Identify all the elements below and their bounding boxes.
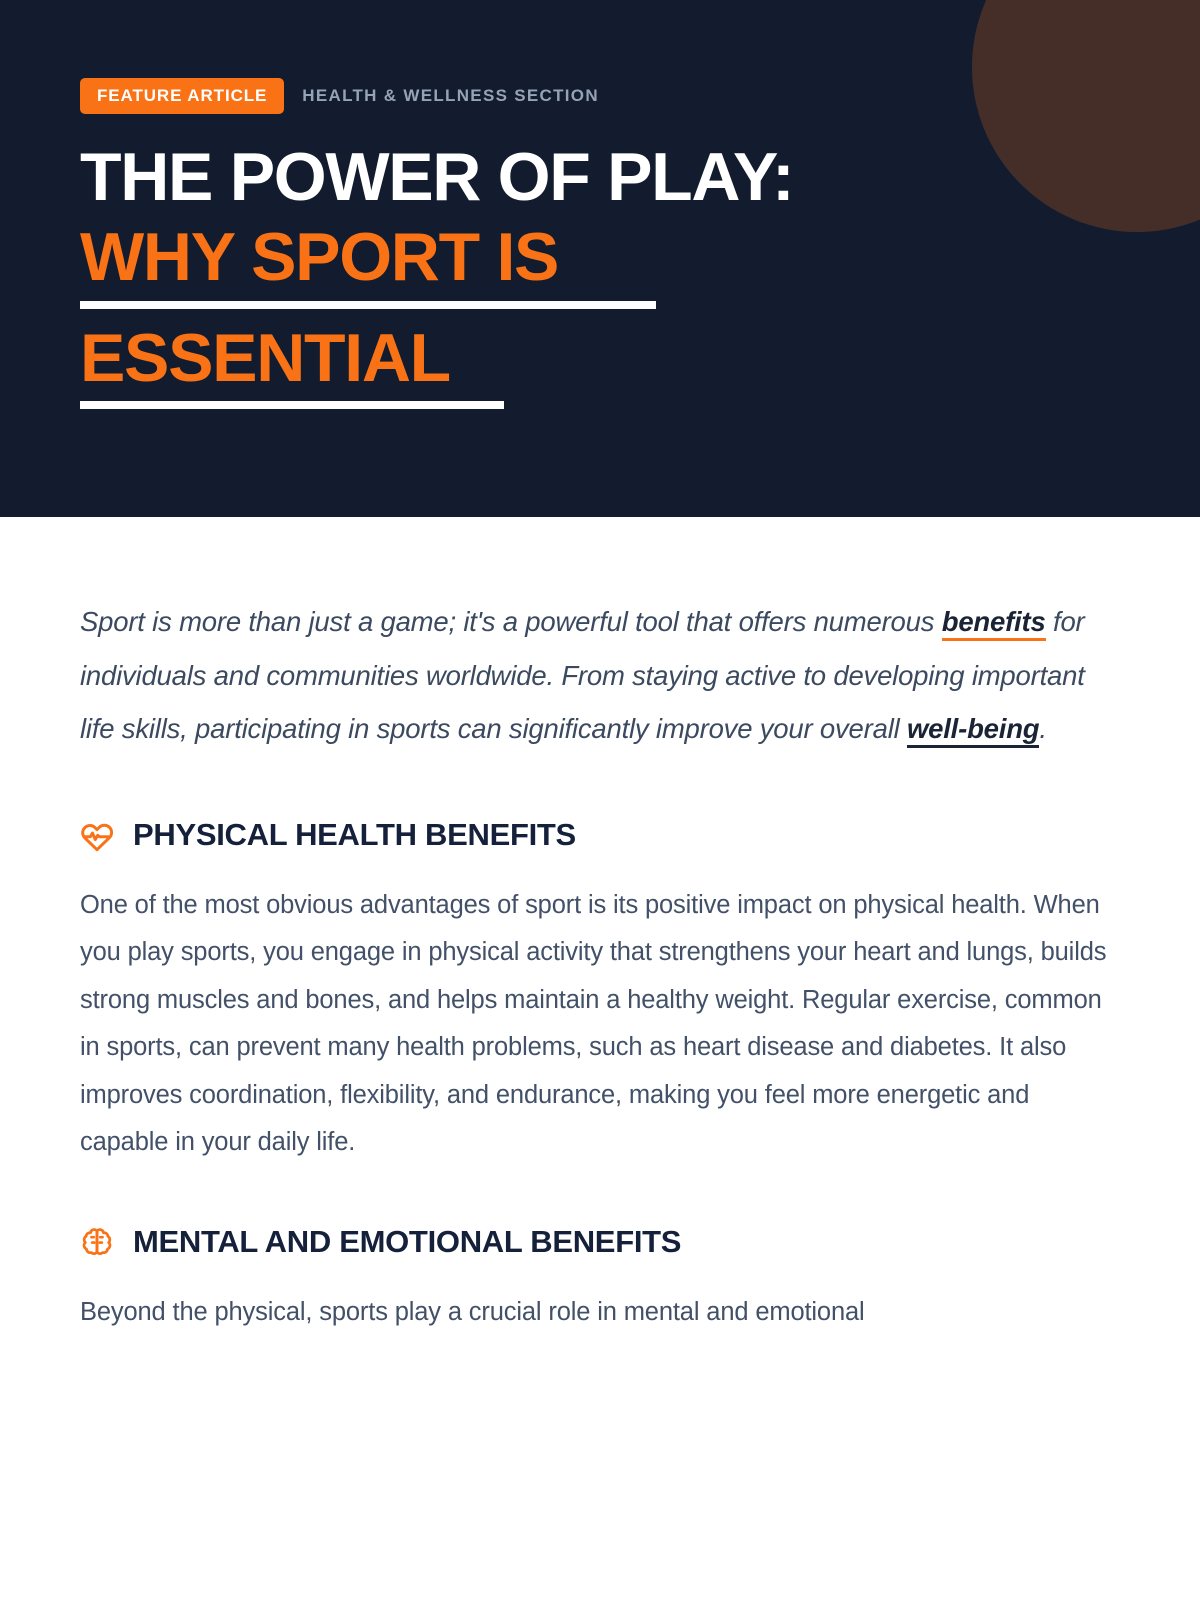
heart-pulse-icon (80, 818, 114, 852)
section-label: HEALTH & WELLNESS SECTION (302, 86, 599, 106)
section-physical-health: PHYSICAL HEALTH BENEFITS One of the most… (80, 818, 1120, 1167)
title-underline-2 (80, 401, 504, 409)
article-body: Sport is more than just a game; it's a p… (0, 595, 1200, 1336)
section-header: MENTAL AND EMOTIONAL BENEFITS (80, 1225, 1120, 1259)
title-line-accent-2: ESSENTIAL (80, 325, 450, 392)
section-mental-emotional: MENTAL AND EMOTIONAL BENEFITS Beyond the… (80, 1225, 1120, 1337)
section-body: One of the most obvious advantages of sp… (80, 882, 1120, 1167)
section-header: PHYSICAL HEALTH BENEFITS (80, 818, 1120, 852)
lede-text-1: Sport is more than just a game; it's a p… (80, 606, 942, 637)
lede-paragraph: Sport is more than just a game; it's a p… (80, 595, 1090, 756)
feature-article-badge[interactable]: FEATURE ARTICLE (80, 78, 284, 114)
title-accent-group: WHY SPORT IS ESSENTIAL (80, 224, 1200, 409)
section-title: PHYSICAL HEALTH BENEFITS (133, 818, 576, 852)
lede-highlight-benefits[interactable]: benefits (942, 606, 1046, 641)
article-hero: FEATURE ARTICLE HEALTH & WELLNESS SECTIO… (0, 0, 1200, 517)
title-accent-block-2: ESSENTIAL (80, 325, 1200, 409)
section-title: MENTAL AND EMOTIONAL BENEFITS (133, 1225, 681, 1259)
section-body: Beyond the physical, sports play a cruci… (80, 1289, 1120, 1336)
lede-text-3: . (1039, 713, 1046, 744)
title-underline-1 (80, 301, 656, 309)
hero-kicker-row: FEATURE ARTICLE HEALTH & WELLNESS SECTIO… (80, 78, 1200, 114)
page-title: THE POWER OF PLAY: WHY SPORT IS ESSENTIA… (80, 144, 1200, 409)
title-line-accent-1: WHY SPORT IS (80, 224, 558, 291)
lede-highlight-wellbeing[interactable]: well-being (907, 713, 1039, 748)
title-accent-block-1: WHY SPORT IS (80, 224, 1200, 308)
title-line-primary: THE POWER OF PLAY: (80, 144, 1200, 211)
brain-icon (80, 1225, 114, 1259)
hero-content: FEATURE ARTICLE HEALTH & WELLNESS SECTIO… (0, 0, 1200, 409)
